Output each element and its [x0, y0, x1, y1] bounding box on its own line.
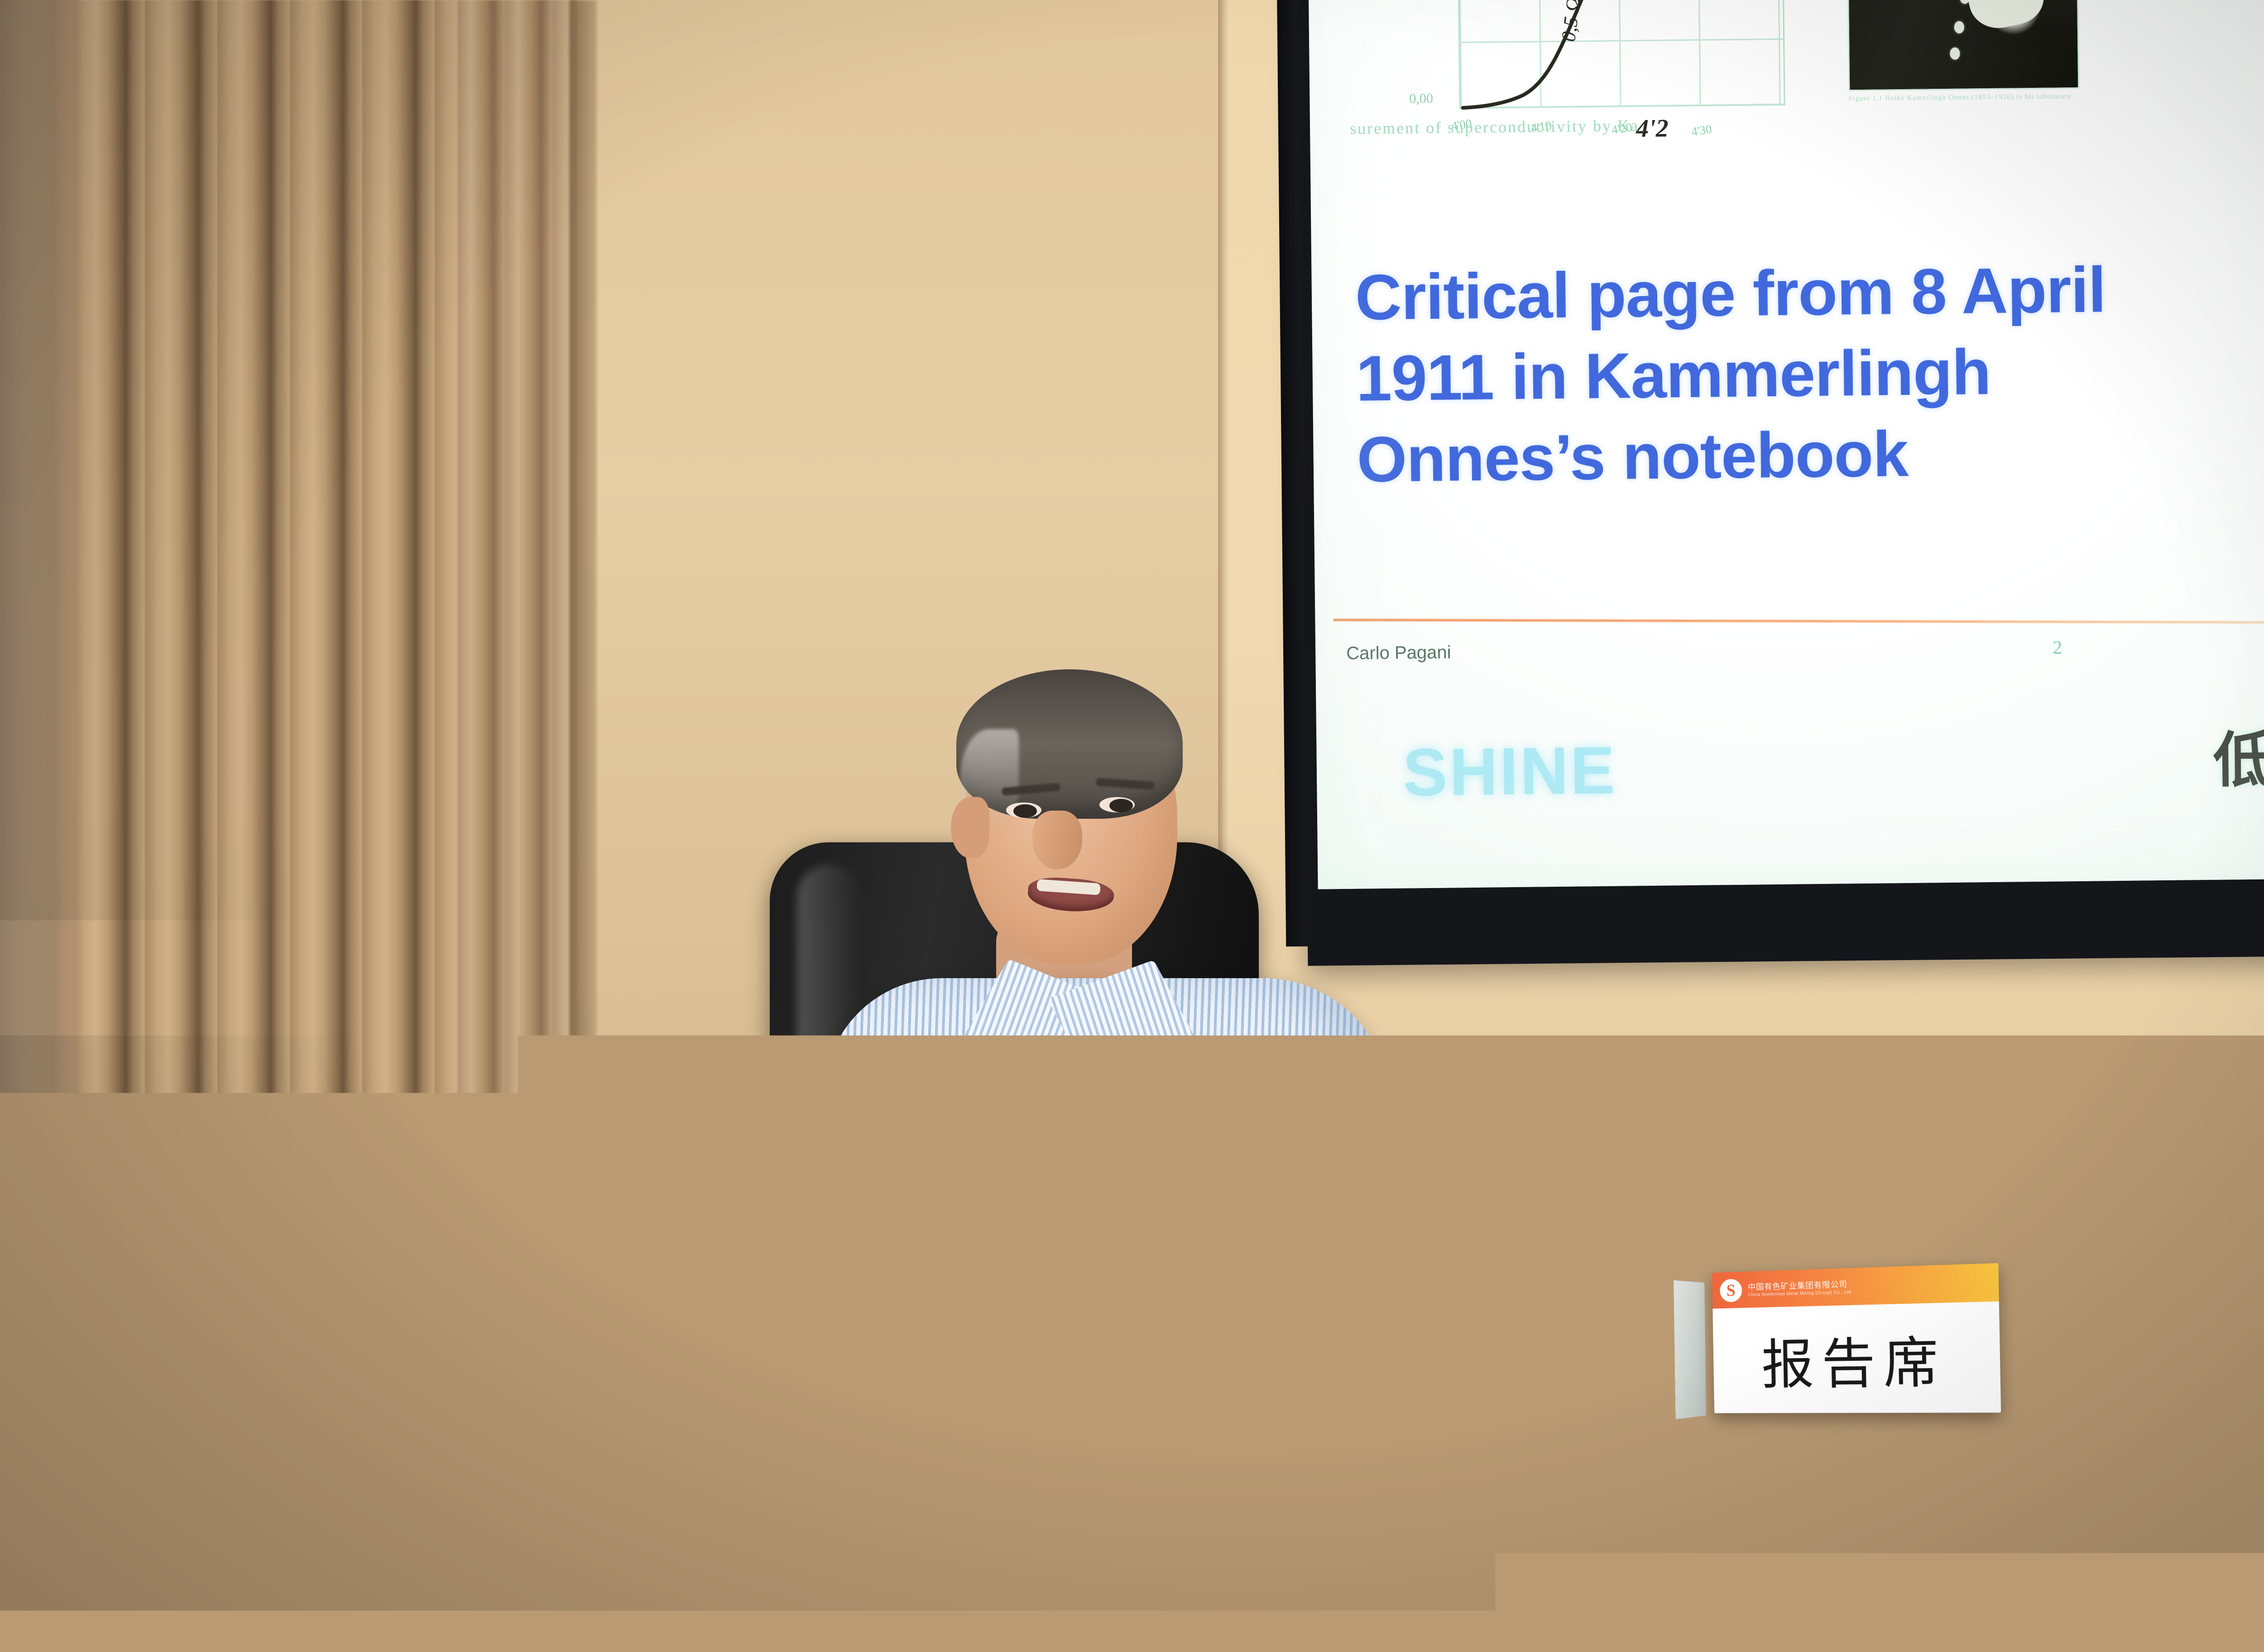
slide-chinese-heading: 低温超	[2213, 711, 2264, 799]
slide-title-line-3: Onnes’s notebook	[1357, 409, 2264, 500]
namecard-role-label: 报告席	[1712, 1301, 2001, 1413]
kamerlingh-onnes-photo	[1846, 0, 2079, 91]
curtain-edge	[570, 0, 597, 1372]
power-cable	[108, 1480, 526, 1652]
speaker-name-card: S 中国有色矿业集团有限公司 China Nonferrous Metal Mi…	[1712, 1263, 2001, 1413]
curtain-secondary-panel	[457, 0, 577, 1372]
chart-ytick-1: 0,00	[1409, 91, 1433, 107]
shine-logo: SHINE	[1402, 732, 1617, 812]
photo-caption: Figure 1.1 Heike Kamerlingh Onnes (1853–…	[1848, 92, 2084, 103]
presentation-scene: 0,025 0,00 0,05 4'00 4'10 4'20 4'30 0,5 …	[0, 0, 2264, 1652]
slide-title-line-2: 1911 in Kammerlingh	[1356, 328, 2264, 420]
slide-page-number: 2	[2053, 637, 2063, 658]
slide-divider-rule	[1333, 619, 2264, 624]
slide-title-line-1: Critical page from 8 April	[1355, 247, 2264, 339]
slide-title: Critical page from 8 April 1911 in Kamme…	[1355, 247, 2264, 501]
projected-slide: 0,025 0,00 0,05 4'00 4'10 4'20 4'30 0,5 …	[1308, 0, 2264, 889]
presenter-eye-right	[1109, 799, 1133, 812]
chart-series-line	[1458, 0, 1785, 110]
curtain-shadow-panel	[0, 0, 77, 1372]
chart-caption: surement of superconductivity by Ka	[1350, 114, 1875, 138]
onnes-resistance-chart: 0,025 0,00 0,05 4'00 4'10 4'20 4'30 0,5 …	[1321, 0, 1845, 228]
presenter-ear	[951, 797, 989, 858]
presenter-nose	[1032, 811, 1082, 869]
water-bottle-cap[interactable]	[1590, 1239, 1639, 1267]
presenter-eye-left	[1013, 804, 1037, 818]
slide-author: Carlo Pagani	[1346, 643, 1451, 664]
shine-logo-text: SHINE	[1402, 732, 1617, 812]
laptop-brand-logo: HUAWEI	[1254, 1276, 1404, 1301]
water-bottle-mountain-icon	[1603, 1368, 1632, 1391]
namecard-side-panel	[1674, 1280, 1706, 1419]
